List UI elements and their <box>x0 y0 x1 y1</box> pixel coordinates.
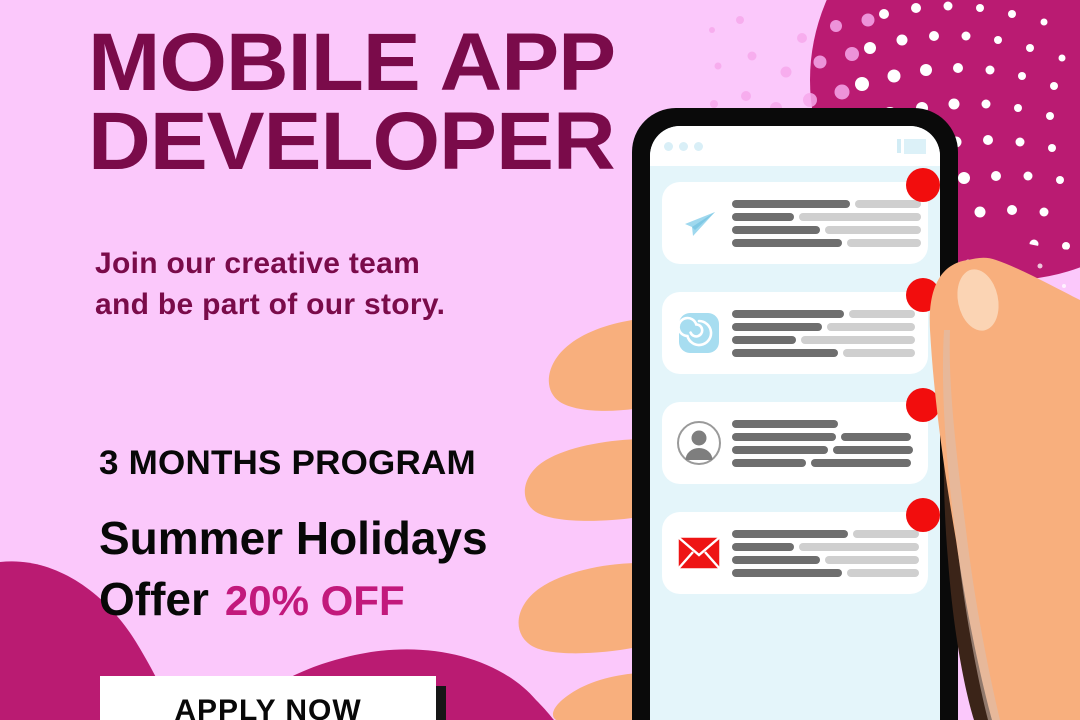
paper-plane-icon <box>676 200 722 246</box>
notification-badge[interactable] <box>906 278 940 312</box>
text-placeholder-segment <box>732 556 820 564</box>
status-dots-icon <box>664 142 703 151</box>
offer-block: Summer Holidays Offer20% OFF <box>99 508 619 629</box>
notification-text-row <box>732 213 921 221</box>
text-placeholder-segment <box>799 213 921 221</box>
notification-text-lines <box>732 310 915 357</box>
text-placeholder-segment <box>732 323 822 331</box>
text-placeholder-segment <box>732 543 794 551</box>
text-placeholder-segment <box>732 459 806 467</box>
notification-text-row <box>732 336 915 344</box>
poster-canvas: MOBILE APP DEVELOPER Join our creative t… <box>0 0 1080 720</box>
text-placeholder-segment <box>833 446 913 454</box>
notification-badge[interactable] <box>906 168 940 202</box>
text-placeholder-segment <box>843 349 915 357</box>
notification-text-row <box>732 530 919 538</box>
text-placeholder-segment <box>841 433 911 441</box>
text-placeholder-segment <box>827 323 915 331</box>
text-placeholder-segment <box>855 200 921 208</box>
battery-icon <box>897 139 926 154</box>
text-placeholder-segment <box>732 336 796 344</box>
text-placeholder-segment <box>732 239 842 247</box>
page-title: MOBILE APP DEVELOPER <box>88 24 682 181</box>
text-placeholder-segment <box>847 239 921 247</box>
notification-text-row <box>732 310 915 318</box>
text-placeholder-segment <box>825 226 921 234</box>
text-placeholder-segment <box>732 349 838 357</box>
text-placeholder-segment <box>801 336 915 344</box>
notification-text-row <box>732 569 919 577</box>
notification-card[interactable] <box>662 182 928 264</box>
notification-card[interactable] <box>662 402 928 484</box>
notification-badge[interactable] <box>906 388 940 422</box>
text-placeholder-segment <box>732 226 820 234</box>
spiral-icon <box>676 310 722 356</box>
apply-now-button[interactable]: APPLY NOW <box>100 676 436 720</box>
notification-text-row <box>732 433 914 441</box>
avatar-icon <box>676 420 722 466</box>
discount-badge: 20% OFF <box>225 577 405 624</box>
notification-list <box>650 166 940 594</box>
subheading: Join our creative team and be part of ou… <box>95 243 575 326</box>
text-placeholder-segment <box>732 433 836 441</box>
phone-status-bar <box>650 126 940 166</box>
phone-device <box>632 108 958 720</box>
text-placeholder-segment <box>732 446 828 454</box>
text-placeholder-segment <box>732 530 848 538</box>
text-placeholder-segment <box>732 213 794 221</box>
notification-text-row <box>732 556 919 564</box>
text-placeholder-segment <box>853 530 919 538</box>
notification-text-row <box>732 226 921 234</box>
text-placeholder-segment <box>732 569 842 577</box>
text-placeholder-segment <box>732 310 844 318</box>
notification-text-lines <box>732 200 921 247</box>
notification-text-row <box>732 323 915 331</box>
notification-text-row <box>732 446 914 454</box>
notification-card[interactable] <box>662 512 928 594</box>
text-placeholder-segment <box>732 200 850 208</box>
notification-text-row <box>732 420 914 428</box>
text-placeholder-segment <box>849 310 915 318</box>
text-placeholder-segment <box>811 459 911 467</box>
notification-text-lines <box>732 530 919 577</box>
notification-text-lines <box>732 420 914 467</box>
program-duration-label: 3 MONTHS PROGRAM <box>99 444 476 483</box>
notification-badge[interactable] <box>906 498 940 532</box>
apply-now-label: APPLY NOW <box>174 694 361 720</box>
text-placeholder-segment <box>847 569 919 577</box>
notification-text-row <box>732 459 914 467</box>
notification-text-row <box>732 543 919 551</box>
text-placeholder-segment <box>825 556 919 564</box>
notification-text-row <box>732 200 921 208</box>
text-placeholder-segment <box>799 543 919 551</box>
notification-text-row <box>732 239 921 247</box>
notification-text-row <box>732 349 915 357</box>
text-placeholder-segment <box>732 420 838 428</box>
notification-card[interactable] <box>662 292 928 374</box>
envelope-icon <box>676 530 722 576</box>
phone-screen <box>650 126 940 720</box>
